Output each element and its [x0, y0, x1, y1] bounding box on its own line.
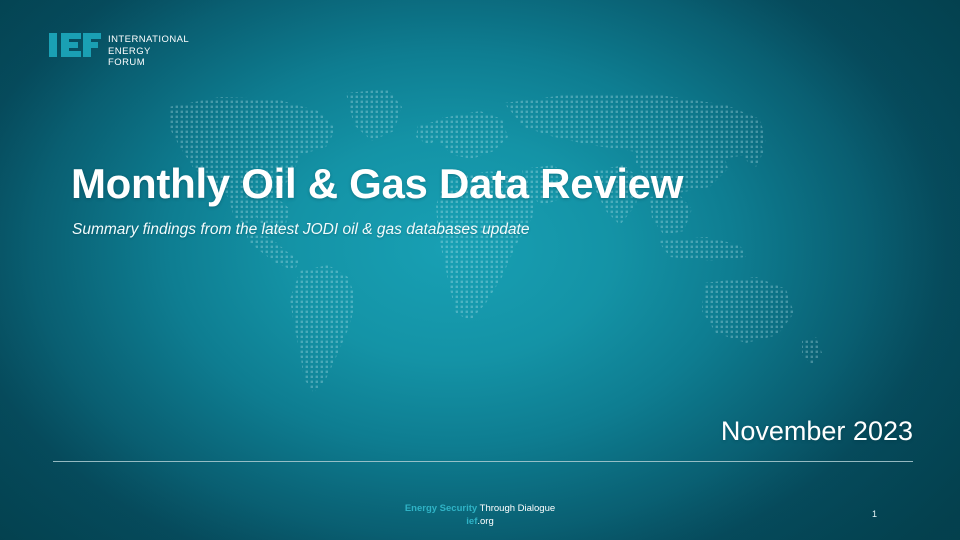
logo-line-international: INTERNATIONAL: [108, 34, 189, 46]
slide-footer: Energy Security Through Dialogue ief.org: [0, 503, 960, 528]
publication-date: November 2023: [721, 414, 913, 448]
world-map-dots-icon: [150, 85, 840, 415]
logo-line-forum: FORUM: [108, 57, 189, 69]
footer-tagline: Energy Security Through Dialogue: [0, 503, 960, 516]
page-number: 1: [872, 508, 877, 520]
footer-tagline-accent: Energy Security: [405, 503, 477, 514]
footer-website-accent: ief: [466, 516, 477, 527]
ief-logo: INTERNATIONAL ENERGY FORUM: [49, 31, 189, 69]
page-title: Monthly Oil & Gas Data Review: [71, 159, 683, 209]
ief-logomark-icon: [49, 31, 101, 59]
logo-line-energy: ENERGY: [108, 46, 189, 58]
horizontal-divider: [53, 461, 913, 462]
page-subtitle: Summary findings from the latest JODI oi…: [72, 219, 529, 241]
footer-website-plain: .org: [477, 516, 493, 527]
background-vignette: [0, 0, 960, 540]
footer-tagline-plain: Through Dialogue: [477, 503, 555, 514]
footer-website[interactable]: ief.org: [0, 516, 960, 529]
title-slide: INTERNATIONAL ENERGY FORUM Monthly Oil &…: [0, 0, 960, 540]
ief-logo-wordmark: INTERNATIONAL ENERGY FORUM: [108, 34, 189, 69]
